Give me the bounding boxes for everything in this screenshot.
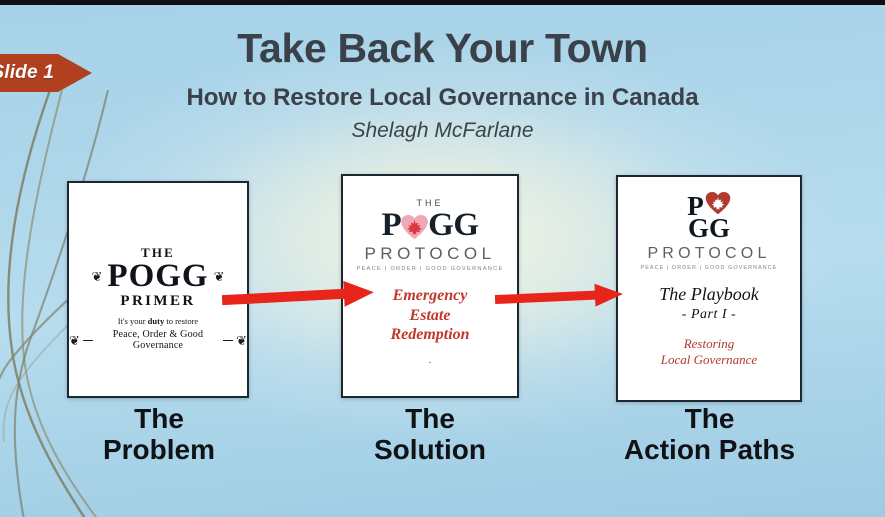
solution-trailing-dot: . — [343, 354, 517, 366]
heart-maple-leaf-icon — [401, 215, 428, 240]
card-the-action-paths[interactable]: P GG PROTOCOL PEACE | ORDER | GOOD GOVER… — [616, 175, 802, 402]
page-title: Take Back Your Town — [0, 25, 885, 72]
top-edge-strip — [0, 0, 885, 5]
flourish-motto-left-icon: ❦ — [69, 334, 80, 347]
primer-tagline-bold: duty — [148, 316, 165, 326]
caption-3-line-1: The — [592, 403, 827, 434]
playbook-wordmark-bottom: GG — [618, 216, 800, 242]
primer-motto: Peace, Order & Good Governance — [96, 329, 220, 351]
author-name: Shelagh McFarlane — [0, 119, 885, 143]
primer-wordmark: POGG — [107, 260, 208, 293]
playbook-part-label: - Part I - — [618, 307, 800, 323]
primer-tagline-suffix: to restore — [164, 316, 198, 326]
heart-maple-leaf-icon — [705, 192, 731, 215]
arrow-solution-to-actions-icon — [495, 278, 635, 312]
arrow-problem-to-solution-icon — [222, 272, 382, 312]
playbook-subtitle: PROTOCOL — [618, 245, 800, 263]
flourish-left-icon: ❦ — [92, 270, 103, 283]
caption-1-line-2: Problem — [55, 434, 263, 465]
caption-2-line-1: The — [326, 403, 534, 434]
playbook-title: The Playbook — [618, 285, 800, 304]
protocol-wordmark-right: GG — [428, 209, 478, 242]
primer-tagline: It's your duty to restore — [69, 316, 247, 326]
playbook-motto: PEACE | ORDER | GOOD GOVERNANCE — [618, 265, 800, 271]
caption-the-action-paths: The Action Paths — [592, 403, 827, 466]
solution-script-line-3: Redemption — [343, 325, 517, 345]
primer-tagline-prefix: It's your — [118, 316, 148, 326]
motto-rule-left — [83, 340, 93, 341]
protocol-wordmark-left: P — [381, 209, 401, 242]
caption-2-line-2: Solution — [326, 434, 534, 465]
presentation-slide: Slide 1 Take Back Your Town How to Resto… — [0, 0, 885, 517]
playbook-red-line-2: Local Governance — [618, 352, 800, 368]
motto-rule-right — [223, 340, 233, 341]
flourish-motto-right-icon: ❦ — [236, 334, 247, 347]
playbook-red-line-1: Restoring — [618, 336, 800, 352]
caption-3-line-2: Action Paths — [592, 434, 827, 465]
caption-1-line-1: The — [55, 403, 263, 434]
protocol-subtitle: PROTOCOL — [343, 244, 517, 264]
caption-the-solution: The Solution — [326, 403, 534, 466]
page-subtitle: How to Restore Local Governance in Canad… — [0, 84, 885, 112]
primer-subtitle: PRIMER — [69, 293, 247, 310]
caption-the-problem: The Problem — [55, 403, 263, 466]
